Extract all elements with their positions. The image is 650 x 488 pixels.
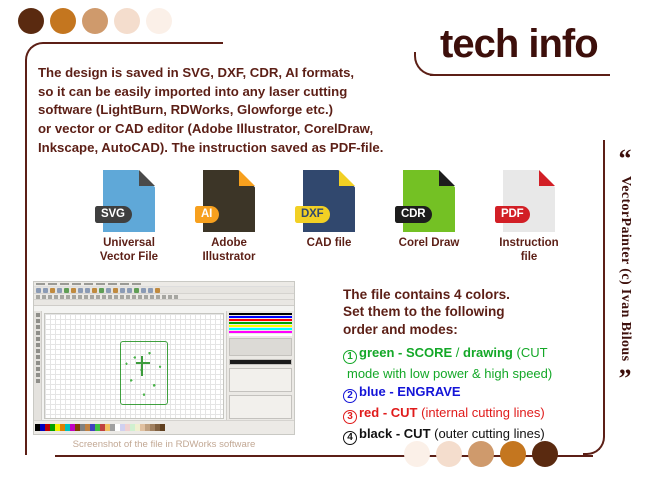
palette-dot [18, 8, 44, 34]
file-format-label: CAD file [293, 237, 365, 251]
layer-swatch [229, 325, 292, 327]
design-preview [120, 341, 168, 405]
color-item-number: 1 [343, 350, 357, 364]
app-horizontal-ruler [34, 300, 294, 306]
panel-dark-bar [229, 359, 292, 365]
file-format-badge: SVG [95, 206, 132, 223]
color-item-number: 4 [343, 431, 357, 445]
file-format-item: AIAdobe Illustrator [193, 170, 265, 265]
color-mode-item: 2blue - ENGRAVE [343, 383, 593, 403]
app-canvas [44, 313, 224, 419]
layer-swatch [229, 331, 292, 333]
cdr-file-icon: CDR [403, 170, 455, 232]
layer-swatch [229, 313, 292, 315]
palette-dot [114, 8, 140, 34]
color-item-strong-secondary: drawing [463, 345, 513, 360]
file-format-badge: CDR [395, 206, 432, 223]
app-toolbar-primary [34, 287, 294, 294]
color-item-continuation: mode with low power & high speed) [343, 365, 593, 382]
color-mode-item: 1green - SCORE / drawing (CUT [343, 344, 593, 364]
palette-dot [82, 8, 108, 34]
color-item-note: (outer cutting lines) [431, 426, 545, 441]
color-mode-item: 4black - CUT (outer cutting lines) [343, 425, 593, 445]
file-fold-corner [239, 170, 255, 186]
quote-open-icon: “ [619, 150, 632, 168]
layer-color-swatches [229, 313, 292, 336]
color-item-separator: / [452, 345, 463, 360]
file-format-item: DXFCAD file [293, 170, 365, 251]
frame-line-right [603, 140, 605, 435]
app-color-palette-strip [35, 424, 165, 431]
color-mode-item: 3red - CUT (internal cutting lines) [343, 404, 593, 424]
file-format-badge: PDF [495, 206, 530, 223]
color-item-note: (internal cutting lines) [418, 405, 545, 420]
color-item-number: 3 [343, 410, 357, 424]
ai-file-icon: AI [203, 170, 255, 232]
file-format-list: SVGUniversal Vector FileAIAdobe Illustra… [93, 170, 565, 265]
svg-file-icon: SVG [103, 170, 155, 232]
color-item-strong: red - CUT [359, 405, 418, 420]
signature-block: “ VectorPainter (c) Ivan Bilous ” [608, 150, 642, 430]
layer-swatch [229, 322, 292, 324]
app-workarea [34, 311, 294, 421]
palette-dot [146, 8, 172, 34]
intro-paragraph: The design is saved in SVG, DXF, CDR, AI… [38, 64, 458, 158]
layer-swatch [229, 319, 292, 321]
page-title: tech info [440, 24, 598, 64]
app-tool-palette [34, 311, 42, 421]
screenshot-block: Screenshot of the file in RDWorks softwa… [33, 281, 295, 450]
app-statusbar [34, 420, 294, 434]
signature-text: VectorPainter (c) Ivan Bilous [617, 176, 633, 361]
panel-settings-box [229, 368, 292, 392]
color-item-strong: black - CUT [359, 426, 431, 441]
file-fold-corner [339, 170, 355, 186]
file-format-label: Universal Vector File [93, 237, 165, 265]
quote-close-icon: ” [619, 370, 632, 388]
colors-info-block: The file contains 4 colors. Set them to … [343, 286, 593, 446]
file-format-item: CDRCorel Draw [393, 170, 465, 251]
screenshot-caption: Screenshot of the file in RDWorks softwa… [33, 439, 295, 450]
color-item-strong: green - SCORE [359, 345, 452, 360]
dxf-file-icon: DXF [303, 170, 355, 232]
color-item-strong: blue - ENGRAVE [359, 384, 461, 399]
color-item-number: 2 [343, 389, 357, 403]
colors-list: 1green - SCORE / drawing (CUTmode with l… [343, 344, 593, 445]
file-fold-corner [539, 170, 555, 186]
layer-swatch [229, 316, 292, 318]
pdf-file-icon: PDF [503, 170, 555, 232]
color-item-note: (CUT [513, 345, 548, 360]
file-format-label: Adobe Illustrator [193, 237, 265, 265]
colors-heading: The file contains 4 colors. Set them to … [343, 286, 593, 338]
rdworks-app-window [33, 281, 295, 435]
file-format-item: PDFInstruction file [493, 170, 565, 265]
panel-output-box [229, 395, 292, 419]
layer-swatch [229, 334, 292, 336]
file-format-item: SVGUniversal Vector File [93, 170, 165, 265]
frame-corner-top-left [25, 42, 47, 64]
file-format-label: Corel Draw [393, 237, 465, 251]
file-fold-corner [139, 170, 155, 186]
file-format-label: Instruction file [493, 237, 565, 265]
palette-dot [50, 8, 76, 34]
panel-properties-box [229, 338, 292, 356]
app-right-panel [226, 311, 294, 421]
file-fold-corner [439, 170, 455, 186]
palette-swatch [160, 424, 165, 431]
file-format-badge: AI [195, 206, 219, 223]
palette-dots-top [18, 8, 172, 34]
frame-line-left [25, 60, 27, 455]
layer-swatch [229, 328, 292, 330]
frame-line-top [45, 42, 223, 44]
file-format-badge: DXF [295, 206, 330, 223]
